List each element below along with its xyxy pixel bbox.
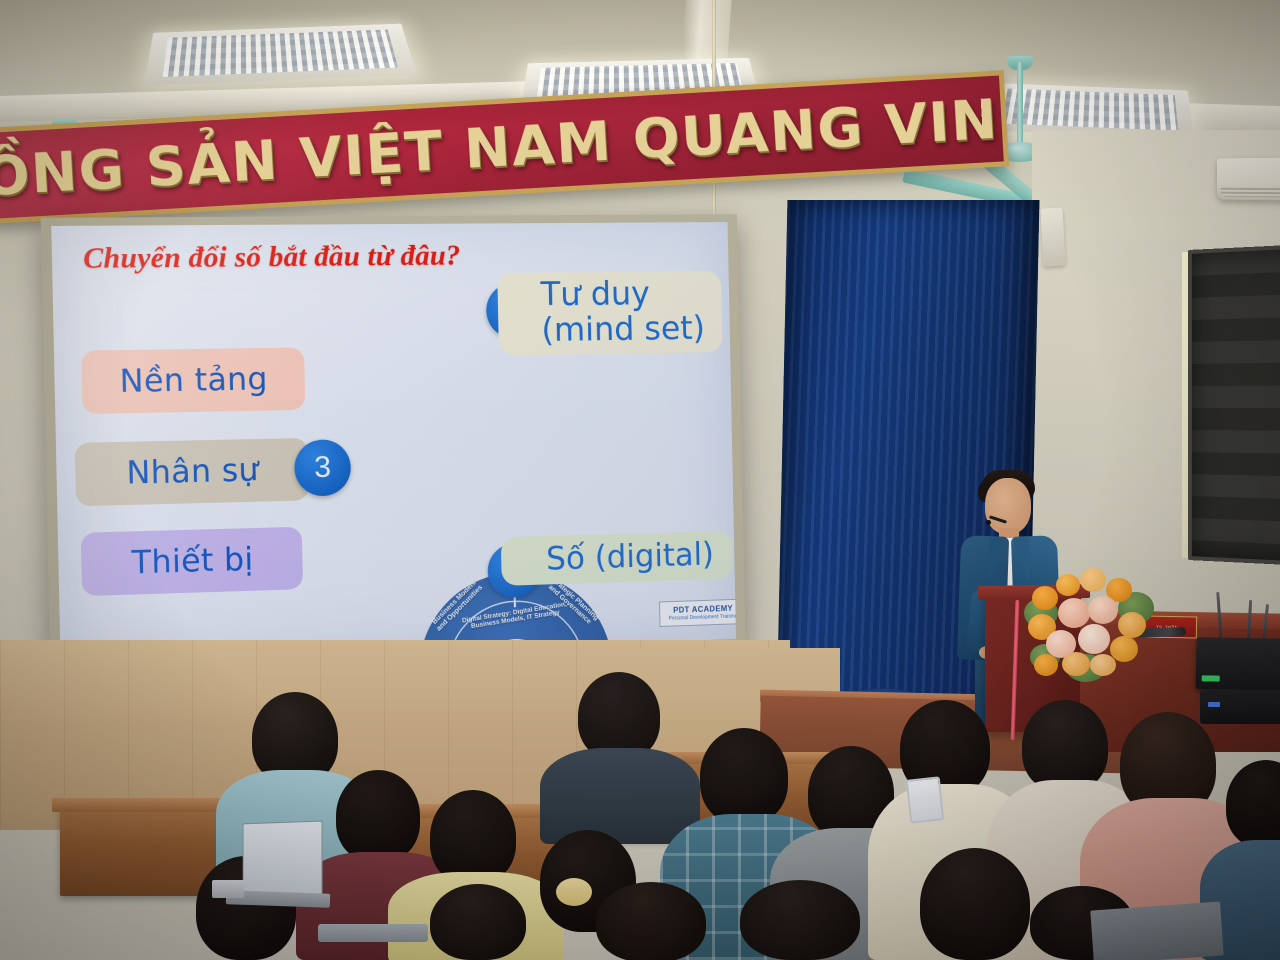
callout-line-2: (mind set): [541, 310, 705, 347]
hair-scrunchie: [556, 878, 592, 906]
window-roller-blind: [1188, 243, 1280, 568]
av-receiver: [1196, 637, 1280, 691]
flower-bouquet: [1022, 558, 1152, 683]
slide-item-label: Thiết bị: [131, 541, 254, 581]
audience-member: [578, 672, 660, 760]
slide-item-nen-tang: Nền tảng: [81, 347, 305, 414]
conference-hall-photo: ỒNG SẢN VIỆT NAM QUANG VINH MUÔN NĂM Chu…: [0, 0, 1280, 960]
audience-member: [1022, 700, 1108, 792]
laptop-base: [318, 924, 428, 942]
number-badge-3: 3: [294, 439, 351, 497]
audience-member: [430, 884, 526, 960]
audience-member: [1226, 760, 1280, 848]
remote-control: [212, 880, 244, 898]
tablet-device: [906, 776, 944, 823]
slide-item-label: Nhân sự: [126, 452, 259, 492]
wall-speaker: [1040, 207, 1065, 266]
logo-subtitle: Personal Development Training: [669, 614, 736, 622]
callout-line-1: Tư duy: [540, 275, 704, 312]
audience-member: [430, 790, 516, 884]
callout-tu-duy: Tư duy (mind set): [497, 271, 722, 356]
laptop-device: [1090, 902, 1223, 960]
callout-line-1: Số (digital): [546, 537, 718, 576]
audience-member: [336, 770, 420, 862]
air-conditioner-icon: [1217, 158, 1280, 201]
audience-member: [700, 728, 788, 824]
headset-mic-capsule: [986, 520, 991, 525]
projection-screen-frame: Chuyển đổi số bắt đầu từ đâu? Nền tảng N…: [41, 214, 746, 674]
pdt-academy-logo: PDT ACADEMY Personal Development Trainin…: [659, 599, 736, 627]
audience-member: [920, 848, 1030, 960]
slide-title: Chuyển đổi số bắt đầu từ đâu?: [83, 240, 461, 276]
slide-item-label: Nền tảng: [119, 361, 268, 400]
presenter-lapel: [993, 538, 1025, 584]
slide-item-thiet-bi: Thiết bị: [81, 527, 303, 596]
projected-slide: Chuyển đổi số bắt đầu từ đâu? Nền tảng N…: [51, 222, 736, 663]
audience-member: [740, 880, 860, 960]
callout-so-digital: Số (digital): [501, 531, 733, 586]
presenter-head: [985, 478, 1031, 534]
audience-member: [596, 882, 706, 960]
slide-item-nhan-su: Nhân sự: [75, 438, 310, 506]
laptop-screen: [243, 820, 323, 895]
